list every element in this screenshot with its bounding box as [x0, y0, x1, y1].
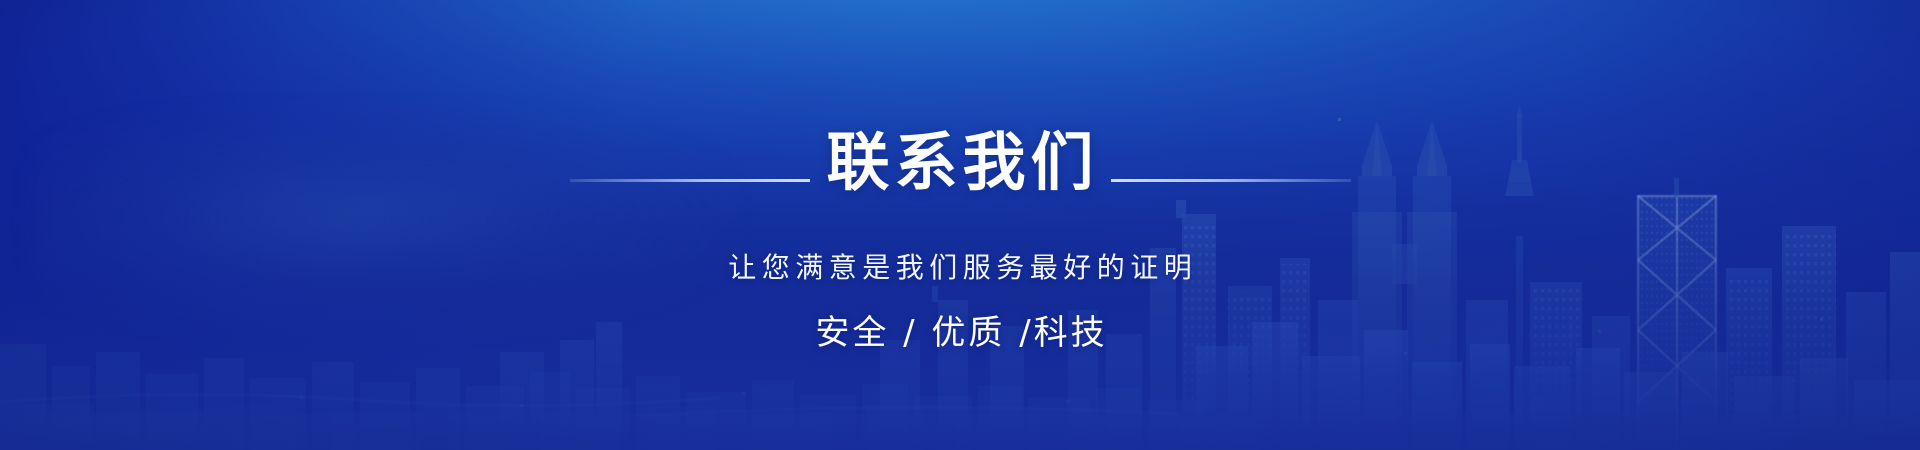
banner-subtitle: 让您满意是我们服务最好的证明 [0, 251, 1920, 285]
banner-content: 联系我们 让您满意是我们服务最好的证明 安全 / 优质 /科技 [0, 0, 1920, 450]
page-title: 联系我们 [810, 131, 1111, 194]
banner-tagline: 安全 / 优质 /科技 [0, 313, 1920, 354]
decorative-rule-left-icon [570, 179, 810, 182]
contact-hero-banner: 联系我们 让您满意是我们服务最好的证明 安全 / 优质 /科技 [0, 0, 1920, 450]
title-row: 联系我们 [0, 131, 1920, 194]
decorative-rule-right-icon [1111, 179, 1351, 182]
